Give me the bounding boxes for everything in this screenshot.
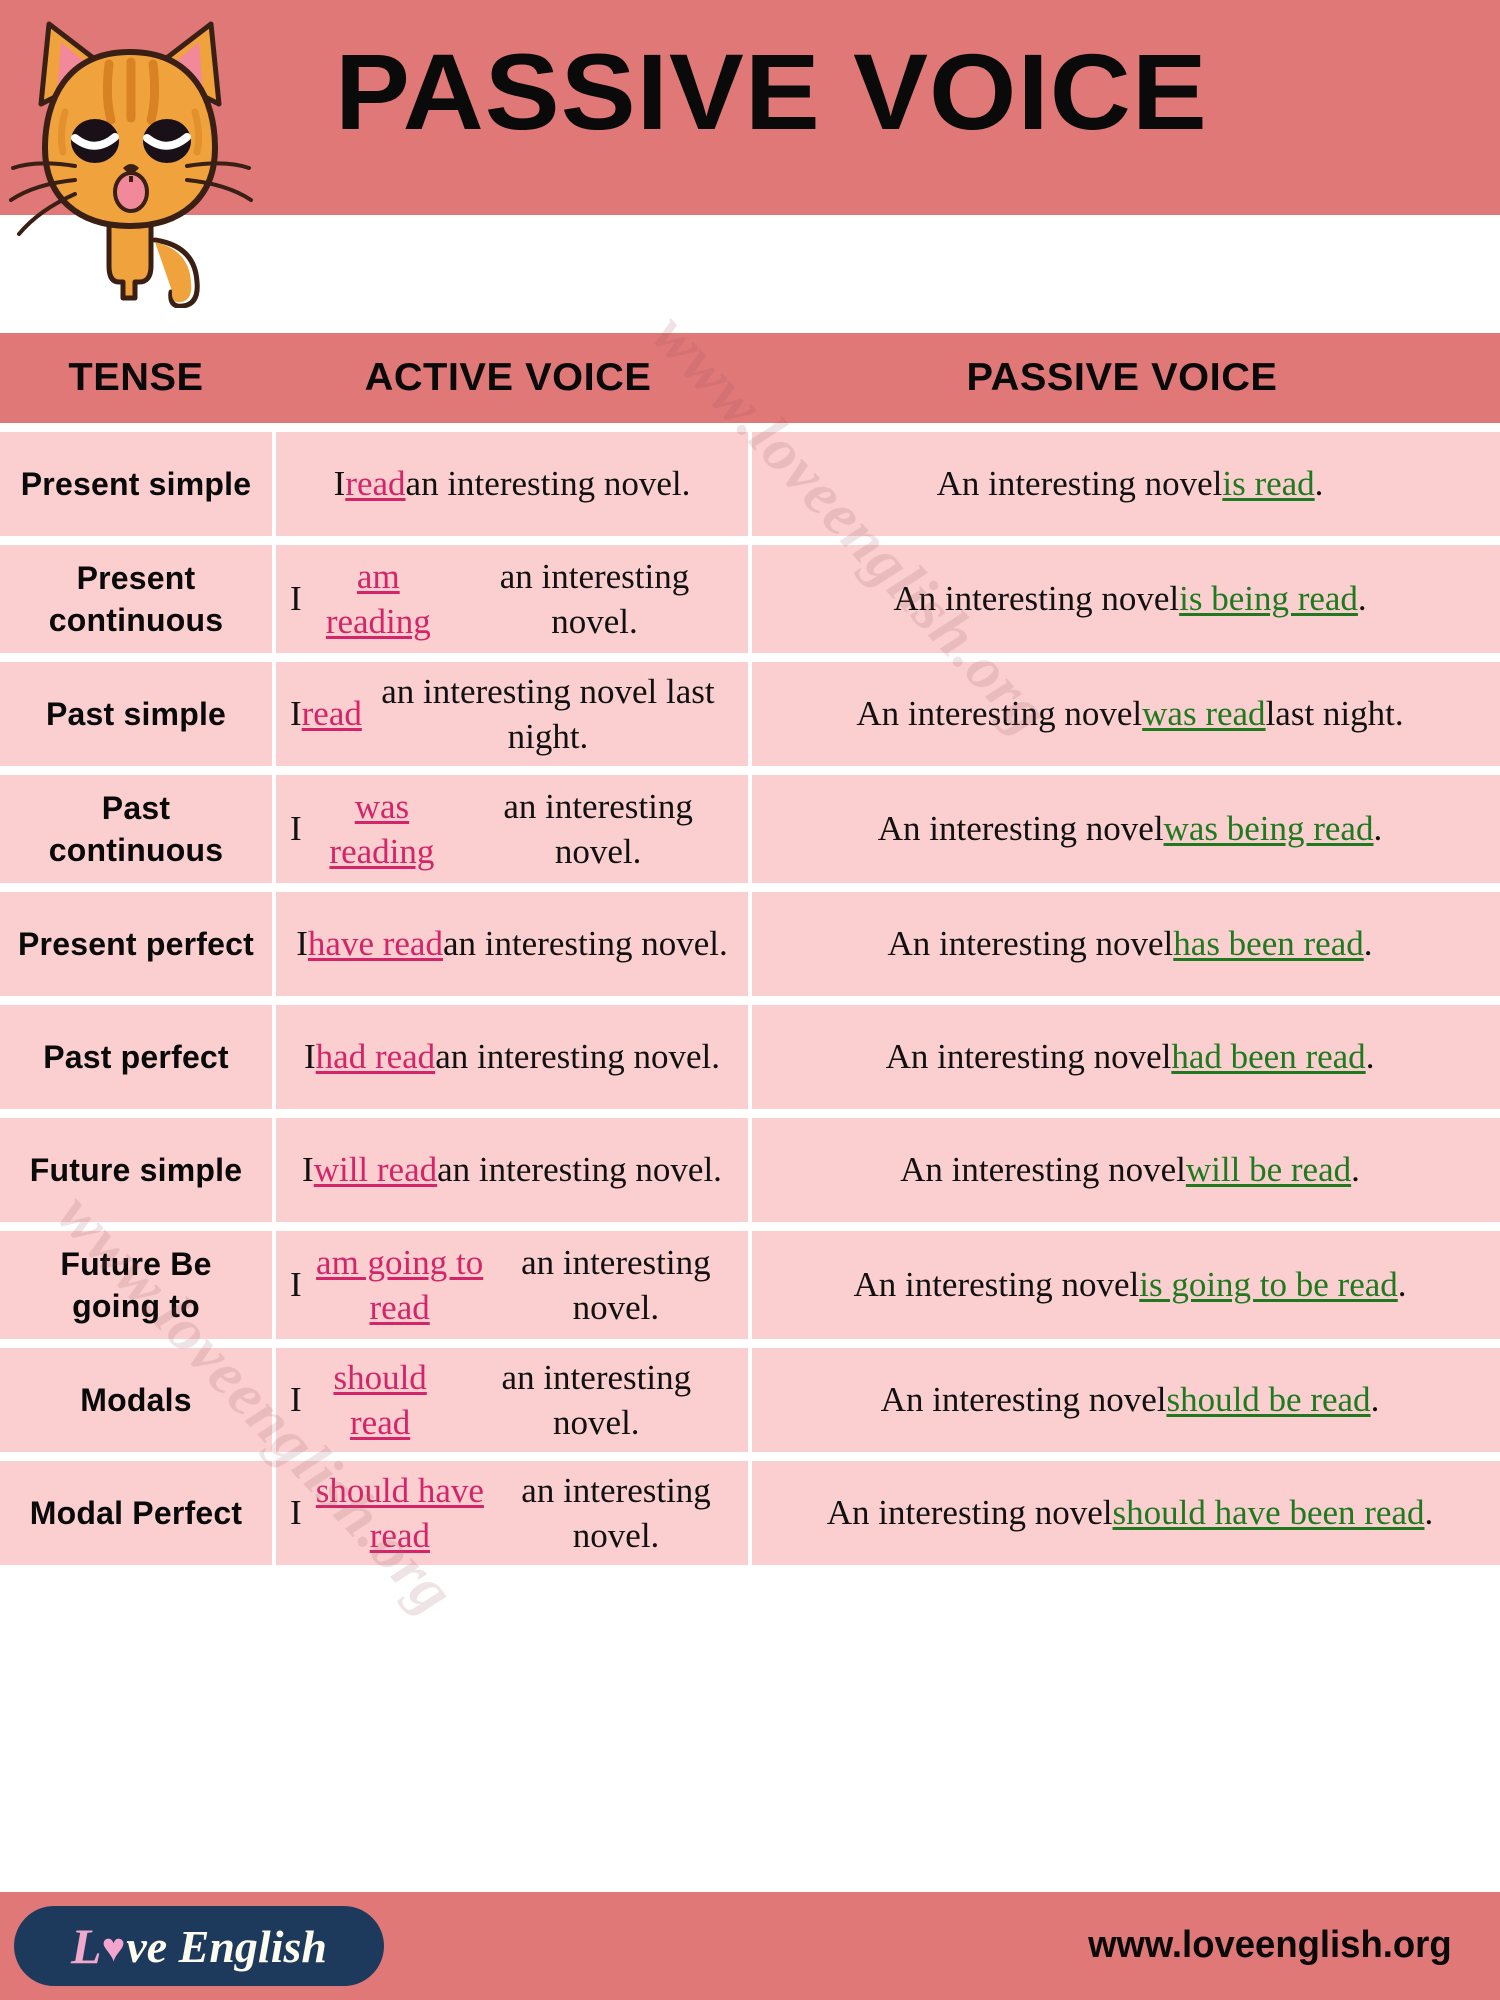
passive-verb-highlight: will be read — [1186, 1147, 1351, 1193]
cell-passive-voice: An interesting novel is being read. — [752, 545, 1500, 653]
active-verb-highlight: read — [302, 691, 362, 737]
active-verb-highlight: should read — [302, 1355, 459, 1446]
cell-tense: Modals — [0, 1348, 272, 1452]
cell-tense: Modal Perfect — [0, 1461, 272, 1565]
table-row: Present continuousI am reading an intere… — [0, 545, 1500, 653]
column-header-passive-voice: PASSIVE VOICE — [736, 356, 1500, 400]
passive-verb-highlight: had been read — [1171, 1034, 1365, 1080]
sentence-prefix: I — [334, 461, 346, 507]
table-row: Past continuousI was reading an interest… — [0, 775, 1500, 883]
cell-tense: Future simple — [0, 1118, 272, 1222]
table-row: ModalsI should read an interesting novel… — [0, 1348, 1500, 1452]
table-row: Future Be going toI am going to read an … — [0, 1231, 1500, 1339]
sentence-prefix: I — [290, 1377, 302, 1423]
table-row: Present perfectI have read an interestin… — [0, 892, 1500, 996]
active-verb-highlight: read — [345, 461, 405, 507]
passive-verb-highlight: was read — [1142, 691, 1265, 737]
column-header-active-voice: ACTIVE VOICE — [267, 356, 748, 400]
sentence-suffix: an interesting novel. — [459, 1355, 734, 1446]
row-separator — [0, 1109, 1500, 1118]
table-row: Future simpleI will read an interesting … — [0, 1118, 1500, 1222]
page-title: PASSIVE VOICE — [335, 38, 1208, 146]
sentence-suffix: an interesting novel. — [498, 1240, 734, 1331]
sentence-suffix: an interesting novel. — [462, 784, 734, 875]
love-english-logo[interactable]: L♥ve English — [14, 1906, 384, 1986]
table-body: Present simpleI read an interesting nove… — [0, 423, 1500, 1565]
footer-band: L♥ve English www.loveenglish.org — [0, 1892, 1500, 2000]
cell-passive-voice: An interesting novel was read last night… — [752, 662, 1500, 766]
sentence-prefix: I — [290, 576, 302, 622]
cell-active-voice: I should read an interesting novel. — [276, 1348, 748, 1452]
table-row: Present simpleI read an interesting nove… — [0, 432, 1500, 536]
cell-tense: Present continuous — [0, 545, 272, 653]
cell-tense: Past simple — [0, 662, 272, 766]
sentence-prefix: I — [290, 1490, 302, 1536]
cell-active-voice: I had read an interesting novel. — [276, 1005, 748, 1109]
sentence-suffix: an interesting novel. — [443, 921, 728, 967]
sentence-prefix: I — [302, 1147, 314, 1193]
sentence-suffix: . — [1315, 461, 1324, 507]
logo-text: L♥ve English — [71, 1917, 327, 1975]
passive-verb-highlight: is going to be read — [1139, 1262, 1398, 1308]
sentence-prefix: An interesting novel — [893, 576, 1179, 622]
sentence-suffix: . — [1371, 1377, 1380, 1423]
passive-verb-highlight: should have been read — [1113, 1490, 1425, 1536]
row-separator — [0, 996, 1500, 1005]
cell-active-voice: I am reading an interesting novel. — [276, 545, 748, 653]
table-header-row: TENSE ACTIVE VOICE PASSIVE VOICE — [0, 333, 1500, 423]
cell-active-voice: I should have read an interesting novel. — [276, 1461, 748, 1565]
sentence-suffix: an interesting novel. — [437, 1147, 722, 1193]
sentence-prefix: An interesting novel — [888, 921, 1174, 967]
sentence-suffix: . — [1364, 921, 1373, 967]
sentence-prefix: An interesting novel — [900, 1147, 1186, 1193]
sentence-suffix: . — [1366, 1034, 1375, 1080]
logo-rest-text: ve English — [126, 1920, 327, 1973]
active-verb-highlight: am reading — [302, 554, 455, 645]
sentence-suffix: an interesting novel. — [498, 1468, 734, 1559]
sentence-suffix: . — [1358, 576, 1367, 622]
sentence-prefix: An interesting novel — [937, 461, 1223, 507]
active-verb-highlight: should have read — [302, 1468, 498, 1559]
passive-verb-highlight: should be read — [1166, 1377, 1370, 1423]
cell-tense: Future Be going to — [0, 1231, 272, 1339]
cell-tense: Past continuous — [0, 775, 272, 883]
cell-active-voice: I read an interesting novel. — [276, 432, 748, 536]
passive-verb-highlight: was being read — [1164, 806, 1374, 852]
row-separator — [0, 1339, 1500, 1348]
cell-passive-voice: An interesting novel is read. — [752, 432, 1500, 536]
row-separator — [0, 423, 1500, 432]
cat-mascot-icon — [5, 8, 255, 308]
sentence-suffix: . — [1425, 1490, 1434, 1536]
sentence-suffix: an interesting novel last night. — [362, 669, 734, 760]
sentence-suffix: last night. — [1266, 691, 1404, 737]
cell-passive-voice: An interesting novel will be read. — [752, 1118, 1500, 1222]
active-verb-highlight: have read — [308, 921, 443, 967]
column-header-tense: TENSE — [0, 356, 275, 400]
active-verb-highlight: was reading — [302, 784, 463, 875]
sentence-suffix: . — [1398, 1262, 1407, 1308]
table-row: Past simpleI read an interesting novel l… — [0, 662, 1500, 766]
sentence-prefix: An interesting novel — [856, 691, 1142, 737]
cell-tense: Present perfect — [0, 892, 272, 996]
row-separator — [0, 536, 1500, 545]
cell-tense: Past perfect — [0, 1005, 272, 1109]
passive-verb-highlight: has been read — [1173, 921, 1363, 967]
sentence-prefix: I — [296, 921, 308, 967]
footer-website-url[interactable]: www.loveenglish.org — [1088, 1924, 1452, 1967]
cell-passive-voice: An interesting novel is going to be read… — [752, 1231, 1500, 1339]
cell-active-voice: I have read an interesting novel. — [276, 892, 748, 996]
table-row: Past perfectI had read an interesting no… — [0, 1005, 1500, 1109]
cell-passive-voice: An interesting novel has been read. — [752, 892, 1500, 996]
sentence-prefix: I — [290, 806, 302, 852]
row-separator — [0, 883, 1500, 892]
sentence-suffix: . — [1351, 1147, 1360, 1193]
sentence-prefix: An interesting novel — [878, 806, 1164, 852]
cell-active-voice: I was reading an interesting novel. — [276, 775, 748, 883]
sentence-prefix: An interesting novel — [886, 1034, 1172, 1080]
sentence-prefix: I — [290, 1262, 302, 1308]
row-separator — [0, 766, 1500, 775]
sentence-suffix: an interesting novel. — [406, 461, 691, 507]
sentence-prefix: An interesting novel — [881, 1377, 1167, 1423]
cell-passive-voice: An interesting novel should be read. — [752, 1348, 1500, 1452]
sentence-suffix: an interesting novel. — [435, 1034, 720, 1080]
row-separator — [0, 1452, 1500, 1461]
table-row: Modal PerfectI should have read an inter… — [0, 1461, 1500, 1565]
sentence-prefix: An interesting novel — [853, 1262, 1139, 1308]
heart-icon: ♥ — [102, 1928, 126, 1968]
sentence-suffix: an interesting novel. — [455, 554, 734, 645]
sentence-suffix: . — [1373, 806, 1382, 852]
cell-active-voice: I read an interesting novel last night. — [276, 662, 748, 766]
active-verb-highlight: had read — [316, 1034, 436, 1080]
cell-passive-voice: An interesting novel was being read. — [752, 775, 1500, 883]
cell-active-voice: I am going to read an interesting novel. — [276, 1231, 748, 1339]
cell-passive-voice: An interesting novel should have been re… — [752, 1461, 1500, 1565]
passive-verb-highlight: is being read — [1179, 576, 1358, 622]
cell-passive-voice: An interesting novel had been read. — [752, 1005, 1500, 1109]
active-verb-highlight: will read — [314, 1147, 437, 1193]
logo-letter-l: L — [71, 1917, 102, 1975]
infographic-page: PASSIVE VOICE — [0, 0, 1500, 2000]
cell-active-voice: I will read an interesting novel. — [276, 1118, 748, 1222]
active-verb-highlight: am going to read — [302, 1240, 498, 1331]
passive-verb-highlight: is read — [1222, 461, 1314, 507]
passive-voice-table: TENSE ACTIVE VOICE PASSIVE VOICE Present… — [0, 333, 1500, 1565]
sentence-prefix: I — [290, 691, 302, 737]
sentence-prefix: I — [304, 1034, 316, 1080]
sentence-prefix: An interesting novel — [827, 1490, 1113, 1536]
row-separator — [0, 1222, 1500, 1231]
row-separator — [0, 653, 1500, 662]
cell-tense: Present simple — [0, 432, 272, 536]
